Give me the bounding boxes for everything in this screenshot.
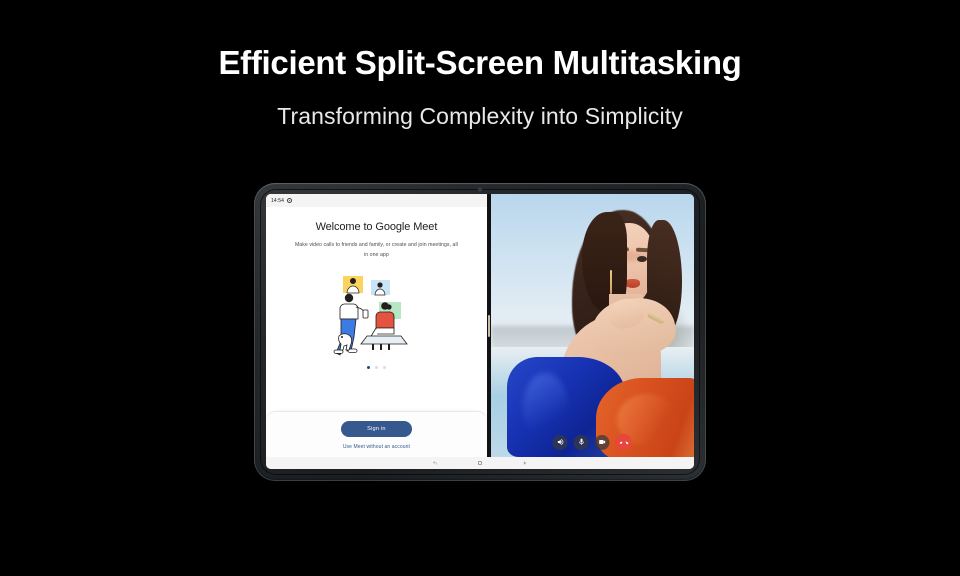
speaker-icon[interactable] [553,435,568,450]
page-subtitle: Transforming Complexity into Simplicity [0,103,960,130]
camera-icon[interactable] [595,435,610,450]
page-title: Efficient Split-Screen Multitasking [0,44,960,82]
sign-in-button[interactable]: Sign in [341,421,412,437]
status-bar-time: 14:54 [271,198,284,204]
meet-welcome-title: Welcome to Google Meet [316,221,438,233]
portrait-photo [491,194,694,457]
pager-dot-3[interactable] [383,366,386,369]
left-pane-google-meet[interactable]: 14:54 Welcome to Google Meet Make video … [266,194,487,457]
call-controls [553,434,632,450]
meet-onboarding-content: Welcome to Google Meet Make video calls … [266,207,487,411]
people-video-call-illustration [317,274,435,358]
microphone-icon[interactable] [574,435,589,450]
recents-icon[interactable] [522,460,528,466]
settings-gear-icon [287,198,292,203]
front-camera-dot-icon [479,188,482,191]
pager-dot-1[interactable] [367,366,370,369]
back-icon[interactable] [432,460,438,466]
use-meet-without-account-link[interactable]: Use Meet without an account [343,444,410,450]
device-screen: 14:54 Welcome to Google Meet Make video … [266,194,694,469]
android-nav-bar [266,457,694,469]
end-call-icon[interactable] [616,434,632,450]
meet-footer: Sign in Use Meet without an account [266,411,487,457]
split-screen-drag-handle[interactable] [488,315,490,337]
right-pane-video-call[interactable] [491,194,694,457]
device-frame: 14:54 Welcome to Google Meet Make video … [254,183,706,481]
home-icon[interactable] [478,461,483,466]
status-bar: 14:54 [266,194,487,207]
tablet-device: 14:54 Welcome to Google Meet Make video … [254,183,706,481]
split-screen-container: 14:54 Welcome to Google Meet Make video … [266,194,694,457]
meet-welcome-description: Make video calls to friends and family, … [292,241,460,260]
pager-dot-2[interactable] [375,366,378,369]
onboarding-pager[interactable] [367,366,387,369]
